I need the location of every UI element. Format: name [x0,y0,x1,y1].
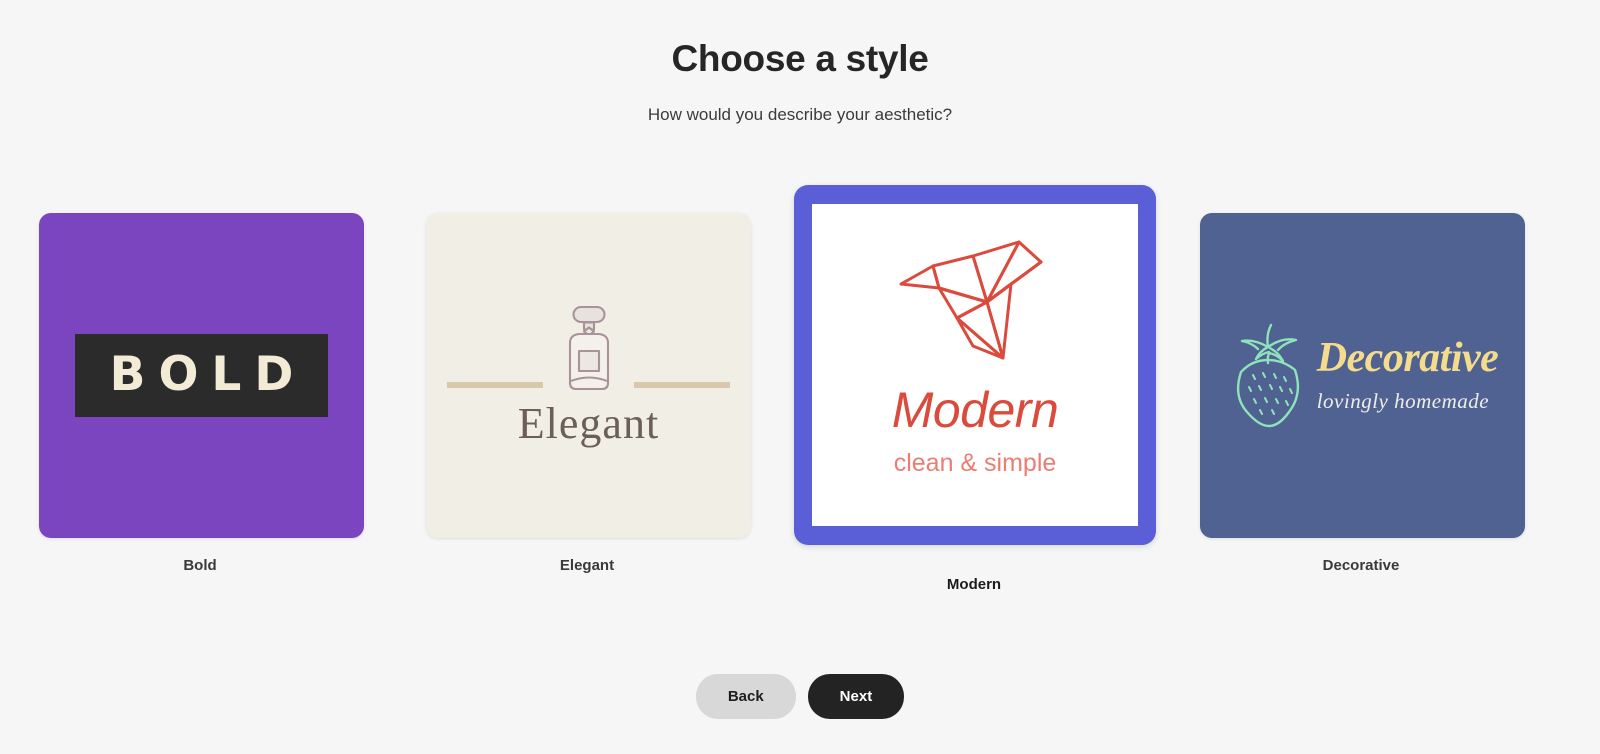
bold-wordmark: BOLD [75,334,329,417]
strawberry-icon [1227,317,1311,434]
style-options-grid: BOLD Bold [0,185,1600,605]
style-option-decorative[interactable]: Decorative lovingly homemade Decorative [1181,185,1541,605]
decorative-wordmark: Decorative [1317,337,1499,379]
style-preview-decorative[interactable]: Decorative lovingly homemade [1200,213,1525,538]
page-subtitle: How would you describe your aesthetic? [0,105,1600,125]
decorative-tagline: lovingly homemade [1317,389,1499,414]
style-preview-modern[interactable]: Modern clean & simple [794,185,1156,545]
next-button[interactable]: Next [808,674,905,719]
style-option-label-elegant: Elegant [407,557,767,574]
back-button[interactable]: Back [696,674,796,719]
modern-wordmark: Modern [812,381,1138,439]
modern-tagline: clean & simple [812,449,1138,478]
divider-left [447,382,543,388]
divider-right [634,382,730,388]
decorative-wordmark-group: Decorative lovingly homemade [1317,337,1499,414]
perfume-bottle-icon [554,305,624,396]
elegant-wordmark: Elegant [426,398,751,449]
style-preview-bold[interactable]: BOLD [39,213,364,538]
style-option-label-modern: Modern [794,576,1154,593]
style-option-bold[interactable]: BOLD Bold [20,185,380,605]
style-preview-elegant[interactable]: Elegant [426,213,751,538]
style-option-label-decorative: Decorative [1181,557,1541,574]
wizard-footer: Back Next [0,674,1600,719]
style-option-modern[interactable]: Modern clean & simple Modern [794,185,1154,605]
origami-bird-icon [895,226,1055,381]
style-option-label-bold: Bold [20,557,380,574]
style-option-elegant[interactable]: Elegant Elegant [407,185,767,605]
choose-style-screen: Choose a style How would you describe yo… [0,0,1600,754]
page-title: Choose a style [0,38,1600,80]
